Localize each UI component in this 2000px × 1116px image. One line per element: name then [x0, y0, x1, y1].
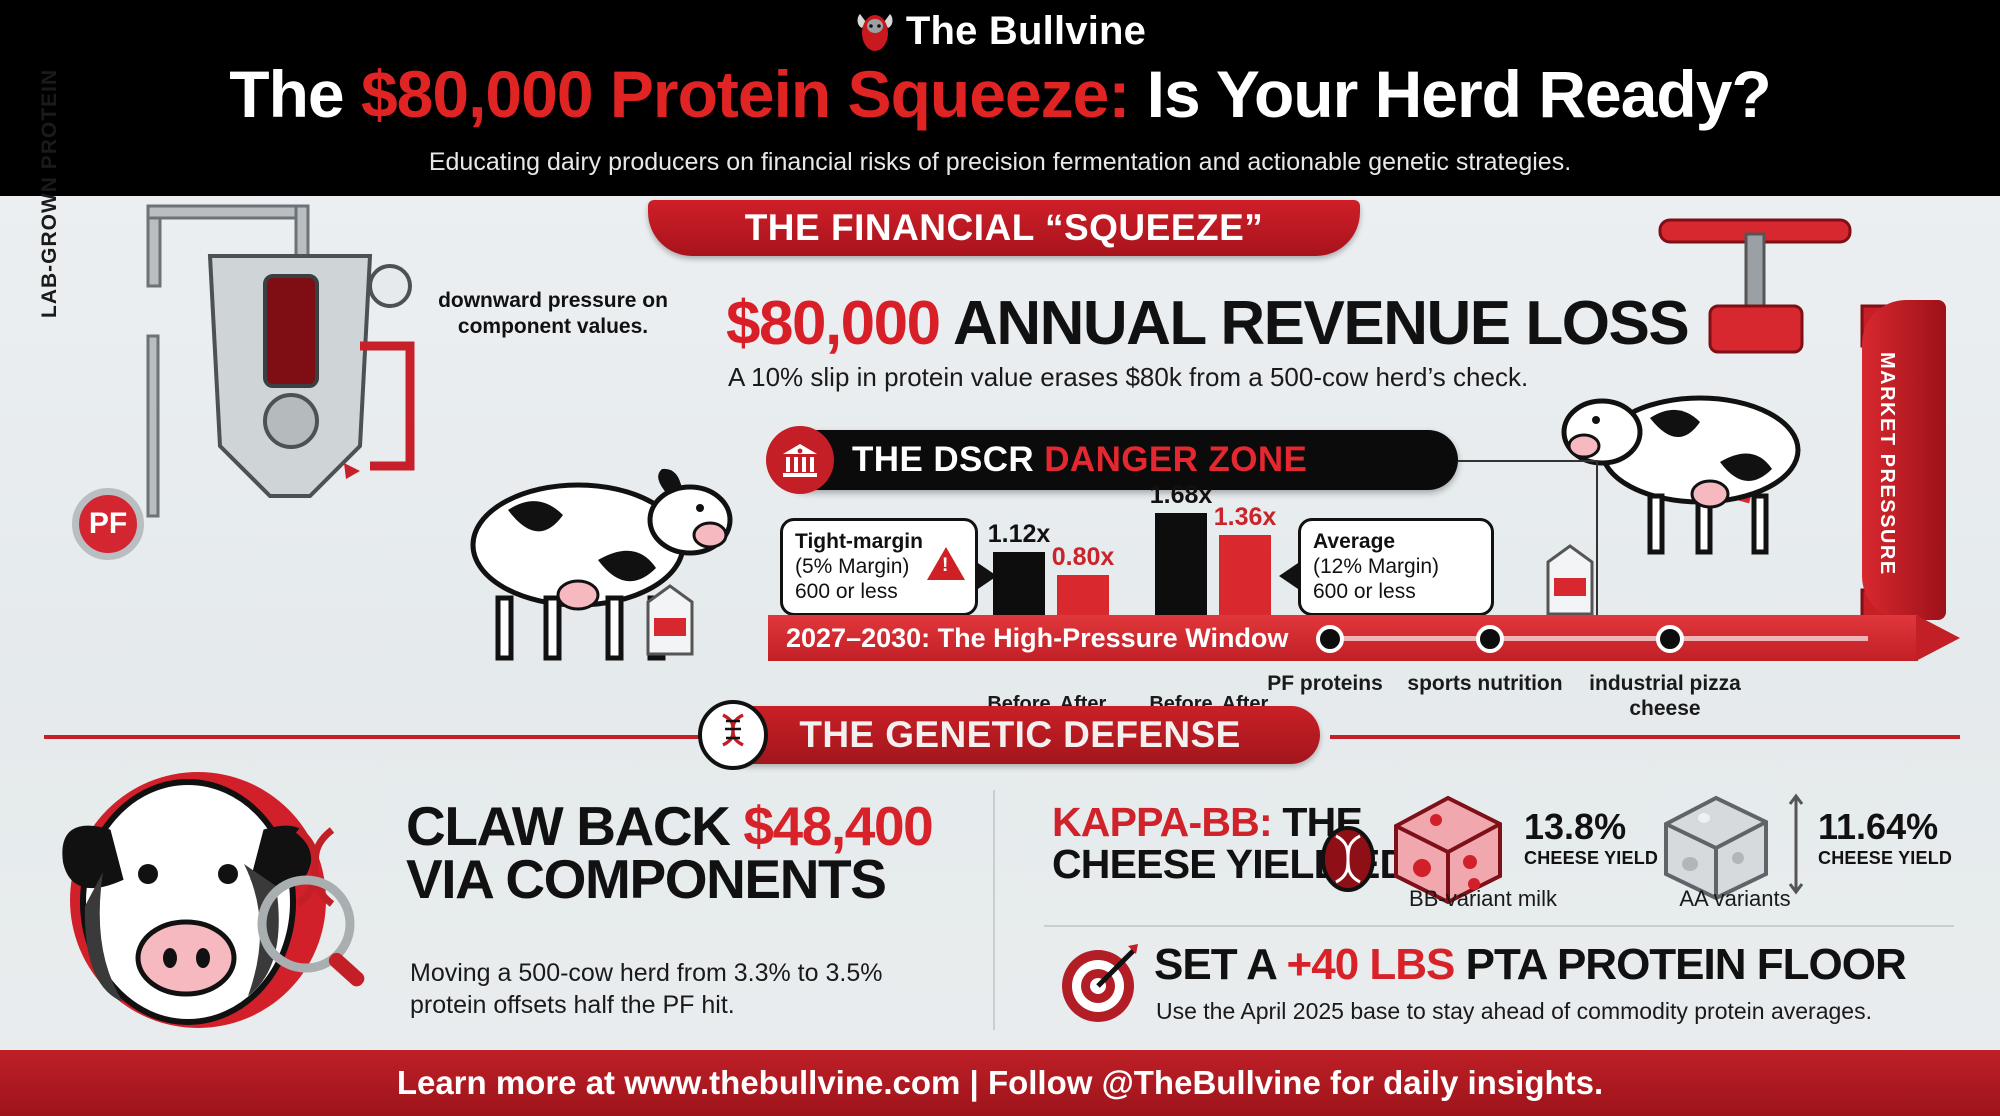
pta-protein-floor-headline: SET A +40 LBS PTA PROTEIN FLOOR	[1154, 940, 1906, 990]
loss-amount: $80,000	[726, 289, 940, 358]
loss-label: ANNUAL REVENUE LOSS	[940, 289, 1689, 358]
average-margin-line-2: (12% Margin)	[1313, 555, 1479, 580]
high-pressure-window-timeline: 2027–2030: The High-Pressure Window	[768, 615, 1960, 661]
footer-text: Learn more at www.thebullvine.com | Foll…	[397, 1064, 1603, 1102]
timeline-track	[1328, 636, 1868, 641]
tight-margin-callout: Tight-margin (5% Margin) 600 or less	[780, 518, 978, 616]
brand-lockup: The Bullvine	[0, 8, 2000, 54]
claw-back-headline: CLAW BACK $48,400 VIA COMPONENTS	[406, 800, 932, 906]
aa-cheese-yield-label: CHEESE YIELD	[1818, 848, 1952, 869]
title-part-1: The	[229, 57, 361, 131]
bull-head-icon	[854, 8, 896, 54]
cow-dna-magnifier-icon	[48, 752, 398, 1052]
dscr-danger-zone-banner: THE DSCR DANGER ZONE	[778, 430, 1458, 490]
milk-carton-icon-right	[1540, 540, 1600, 620]
pta-head-red: +40 LBS	[1287, 940, 1455, 989]
aa-variant-caption: AA variants	[1620, 886, 1850, 912]
genetic-defense-label: THE GENETIC DEFENSE	[799, 714, 1240, 756]
dscr-title-red: DANGER ZONE	[1044, 440, 1307, 479]
dscr-leader-line	[1458, 460, 1598, 462]
bar-value-2-after: 1.36x	[1200, 503, 1290, 532]
kappa-title-red: KAPPA-BB:	[1052, 799, 1272, 845]
infographic-root: The Bullvine The $80,000 Protein Squeeze…	[0, 0, 2000, 1116]
dscr-banner-label: THE DSCR DANGER ZONE	[852, 440, 1307, 480]
financial-squeeze-banner: THE FINANCIAL “SQUEEZE”	[648, 200, 1360, 256]
milk-carton-icon-left	[640, 580, 700, 660]
vertical-divider	[993, 790, 995, 1030]
annual-revenue-loss-sub: A 10% slip in protein value erases $80k …	[728, 362, 1528, 393]
timeline-caption-3: industrial pizza cheese	[1570, 672, 1760, 722]
timeline-caption-2: sports nutrition	[1390, 672, 1580, 697]
warning-triangle-icon	[927, 547, 965, 580]
genetic-divider-right	[1330, 735, 1960, 739]
bb-cheese-yield-pct: 13.8%	[1524, 806, 1626, 848]
dna-badge-icon	[1320, 826, 1376, 892]
horizontal-divider	[1044, 925, 1954, 927]
footer: Learn more at www.thebullvine.com | Foll…	[0, 1050, 2000, 1116]
timeline-dot-3	[1656, 625, 1684, 653]
pta-head-a: SET A	[1154, 940, 1287, 989]
pf-badge: PF	[72, 488, 144, 560]
dscr-title-white: THE DSCR	[852, 440, 1044, 479]
timeline-dot-1	[1316, 625, 1344, 653]
timeline-dot-2	[1476, 625, 1504, 653]
bb-variant-caption: BB-variant milk	[1368, 886, 1598, 912]
page-title: The $80,000 Protein Squeeze: Is Your Her…	[0, 56, 2000, 132]
annual-revenue-loss-headline: $80,000 ANNUAL REVENUE LOSS	[726, 288, 1688, 359]
genetic-defense-banner: THE GENETIC DEFENSE	[720, 706, 1320, 764]
claw-line2: VIA COMPONENTS	[406, 853, 932, 906]
header: The Bullvine The $80,000 Protein Squeeze…	[0, 0, 2000, 196]
average-margin-callout: Average (12% Margin) 600 or less	[1298, 518, 1494, 616]
dscr-bar-chart: 1.12xBefore0.80xAfter1.68xBefore1.36xAft…	[985, 505, 1285, 690]
title-amount: $80,000 Protein Squeeze:	[361, 57, 1129, 131]
lab-grown-protein-label: LAB-GROWN PROTEIN	[38, 69, 62, 318]
dscr-leader-line-vertical	[1596, 460, 1598, 630]
average-margin-line-3: 600 or less	[1313, 580, 1479, 605]
financial-squeeze-banner-label: THE FINANCIAL “SQUEEZE”	[745, 207, 1264, 249]
title-part-2: Is Your Herd Ready?	[1129, 57, 1770, 131]
bank-icon	[766, 426, 834, 494]
claw-back-sub: Moving a 500-cow herd from 3.3% to 3.5% …	[410, 958, 930, 1021]
downward-pressure-caption: downward pressure on component values.	[418, 288, 688, 341]
dna-icon	[698, 700, 768, 770]
aa-cheese-yield-pct: 11.64%	[1818, 806, 1938, 848]
timeline-label: 2027–2030: The High-Pressure Window	[786, 623, 1288, 654]
target-dart-icon	[1058, 940, 1142, 1024]
timeline-arrowhead	[1916, 615, 1960, 661]
pta-protein-floor-sub: Use the April 2025 base to stay ahead of…	[1156, 998, 1872, 1025]
tight-margin-line-3: 600 or less	[795, 580, 963, 605]
page-subtitle: Educating dairy producers on financial r…	[0, 148, 2000, 177]
market-pressure-label: MARKET PRESSURE	[1875, 352, 1898, 576]
average-margin-line-1: Average	[1313, 530, 1479, 555]
bb-cheese-yield-label: CHEESE YIELD	[1524, 848, 1658, 869]
brand-name: The Bullvine	[906, 9, 1146, 54]
pta-head-b: PTA PROTEIN FLOOR	[1454, 940, 1905, 989]
bar-value-1-after: 0.80x	[1038, 543, 1128, 572]
